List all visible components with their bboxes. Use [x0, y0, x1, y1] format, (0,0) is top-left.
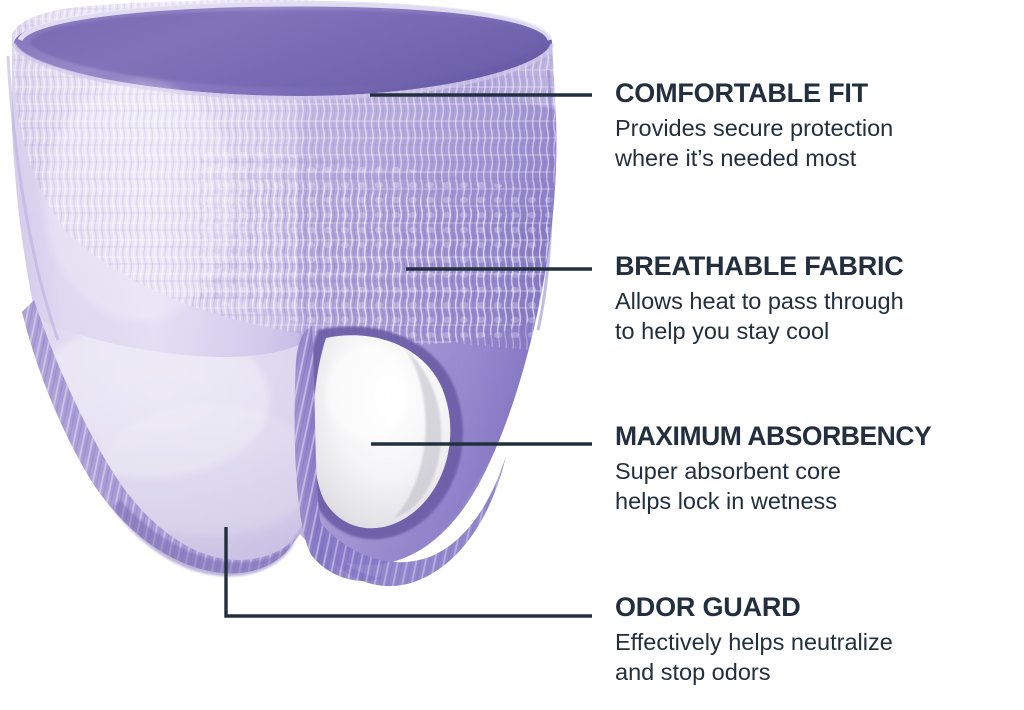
callout-body: Provides secure protection where it’s ne…	[615, 113, 1024, 173]
callout-body-line: Allows heat to pass through	[615, 286, 1024, 316]
callout-body-line: to help you stay cool	[615, 316, 1024, 346]
callout-title: ODOR GUARD	[615, 592, 1024, 622]
callout-body-line: where it’s needed most	[615, 143, 1024, 173]
callout-body-line: Super absorbent core	[615, 456, 1024, 486]
callout-body-line: and stop odors	[615, 657, 1024, 687]
infographic-canvas: COMFORTABLE FIT Provides secure protecti…	[0, 0, 1024, 710]
callout-comfortable-fit: COMFORTABLE FIT Provides secure protecti…	[615, 78, 1024, 173]
callout-maximum-absorbency: MAXIMUM ABSORBENCY Super absorbent core …	[615, 421, 1024, 516]
callout-breathable-fabric: BREATHABLE FABRIC Allows heat to pass th…	[615, 251, 1024, 346]
callout-body-line: helps lock in wetness	[615, 486, 1024, 516]
callout-title: MAXIMUM ABSORBENCY	[615, 421, 1024, 451]
callout-body: Effectively helps neutralize and stop od…	[615, 627, 1024, 687]
callout-title: BREATHABLE FABRIC	[615, 251, 1024, 281]
callout-body: Super absorbent core helps lock in wetne…	[615, 456, 1024, 516]
product-image	[0, 0, 600, 640]
callout-odor-guard: ODOR GUARD Effectively helps neutralize …	[615, 592, 1024, 687]
callout-body-line: Provides secure protection	[615, 113, 1024, 143]
callout-body-line: Effectively helps neutralize	[615, 627, 1024, 657]
callout-title: COMFORTABLE FIT	[615, 78, 1024, 108]
callout-body: Allows heat to pass through to help you …	[615, 286, 1024, 346]
